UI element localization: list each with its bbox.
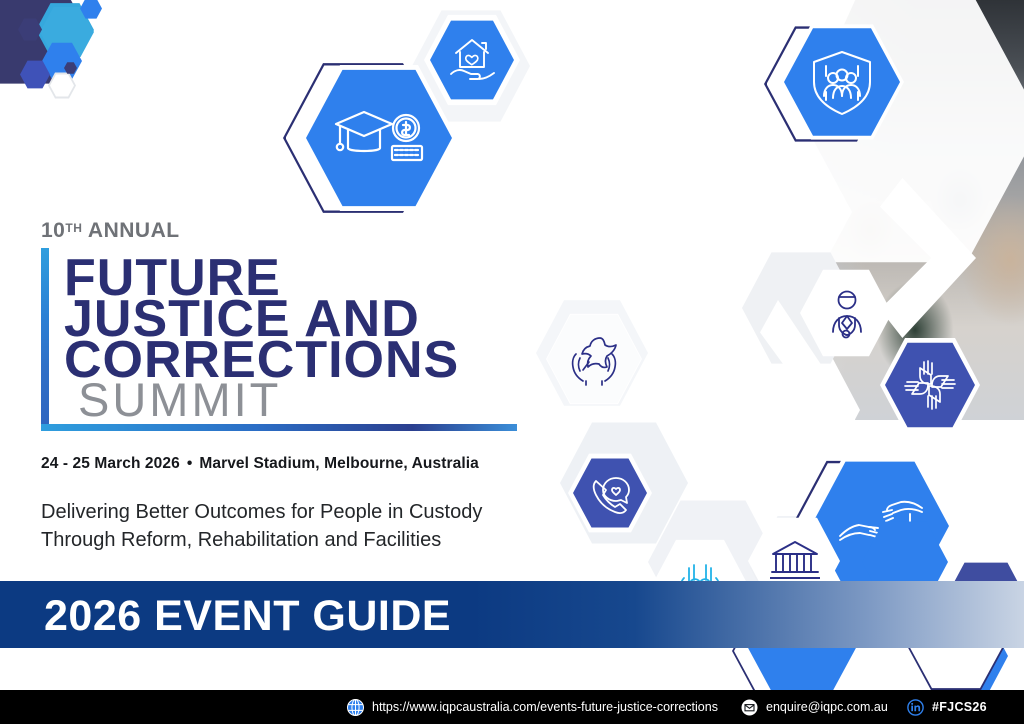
edition-label: 10TH ANNUAL: [41, 219, 180, 243]
edition-word: ANNUAL: [88, 219, 180, 242]
envelope-icon: [740, 698, 758, 716]
title-accent-bar: [41, 248, 49, 424]
footer-email[interactable]: enquire@iqpc.com.au: [740, 698, 888, 716]
edition-suffix: TH: [65, 221, 82, 235]
footer-email-text: enquire@iqpc.com.au: [766, 700, 888, 714]
dateline-separator: •: [180, 455, 200, 472]
subtitle-line-2: Through Reform, Rehabilitation and Facil…: [41, 526, 482, 554]
event-guide-cover: 10TH ANNUAL FUTURE JUSTICE AND CORRECTIO…: [0, 0, 1024, 724]
event-venue: Marvel Stadium, Melbourne, Australia: [199, 455, 479, 472]
globe-icon: [346, 698, 364, 716]
edition-number: 10: [41, 219, 65, 242]
event-dates: 24 - 25 March 2026: [41, 455, 180, 472]
footer-social[interactable]: #FJCS26: [906, 698, 987, 716]
footer-hashtag: #FJCS26: [932, 700, 987, 714]
footer-website[interactable]: https://www.iqpcaustralia.com/events-fut…: [346, 698, 718, 716]
event-guide-label: 2026 EVENT GUIDE: [44, 592, 451, 641]
subtitle-line-1: Delivering Better Outcomes for People in…: [41, 498, 482, 526]
shield-people-icon: [806, 48, 878, 118]
phone-heart-icon: [588, 472, 634, 516]
event-dateline: 24 - 25 March 2026•Marvel Stadium, Melbo…: [41, 455, 479, 473]
doctor-stethoscope-icon: [820, 288, 874, 340]
four-hands-teamwork-icon: [902, 358, 958, 412]
event-subtitle: Delivering Better Outcomes for People in…: [41, 498, 482, 554]
footer-website-text: https://www.iqpcaustralia.com/events-fut…: [372, 700, 718, 714]
courthouse-icon: [770, 538, 820, 584]
graduation-cap-dollar-icon: [330, 100, 428, 176]
hand-house-heart-icon: [446, 34, 500, 86]
hands-dove-icon: [565, 332, 623, 388]
title-line-4: SUMMIT: [78, 372, 281, 427]
linkedin-icon: [906, 698, 924, 716]
